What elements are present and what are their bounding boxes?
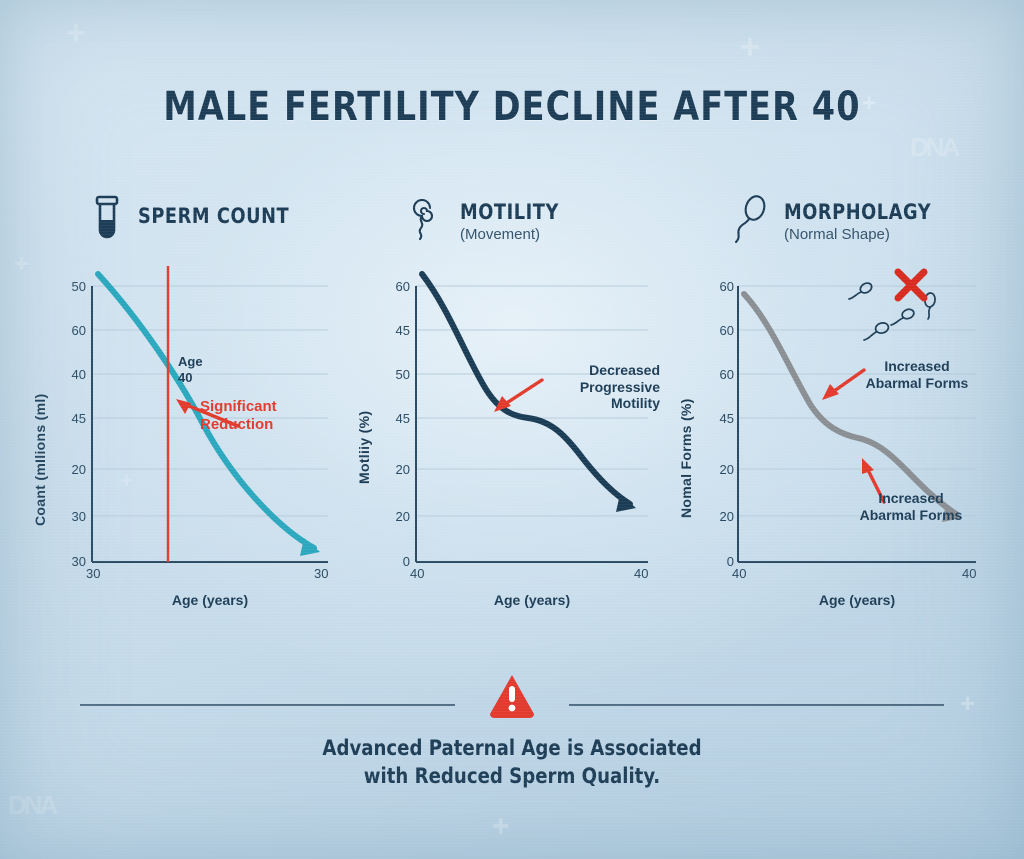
plot-area-motility: Motliiy (%) 60 45 50 45 20 20 0 [352, 266, 672, 630]
chart-panel-sperm-count: SPERM COUNT Coant (mIlions (ml) 50 60 40… [28, 190, 348, 630]
footer-line-2: with Reduced Sperm Quality. [364, 764, 660, 788]
x-axis-label: Age (years) [92, 592, 328, 608]
plus-watermark-icon: + [66, 16, 86, 50]
plus-watermark-icon: + [492, 812, 510, 842]
panel-header: MOTILITY (Movement) [352, 190, 672, 262]
page-title: MALE FERTILITY DECLINE AFTER 40 [36, 84, 988, 130]
plot-area-morphology: Nomal Forms (%) 60 60 60 45 20 20 0 [676, 266, 996, 630]
plus-watermark-icon: + [740, 30, 760, 64]
x-tick: 40 [410, 566, 424, 581]
x-tick: 30 [86, 566, 100, 581]
panel-subtitle: (Normal Shape) [784, 226, 890, 243]
footer-text: Advanced Paternal Age is Associated with… [20, 734, 1003, 791]
x-axis-label: Age (years) [416, 592, 648, 608]
dna-watermark-icon: DNA [8, 790, 55, 821]
panel-title: SPERM COUNT [138, 204, 289, 228]
plot-area-sperm-count: Coant (mIlions (ml) 50 60 40 45 20 30 30 [28, 266, 348, 630]
warning-triangle-icon [488, 672, 536, 718]
plus-watermark-icon: + [14, 250, 29, 276]
decreased-progressive-motility-annotation: DecreasedProgressiveMotility [542, 362, 660, 412]
increased-abnormal-forms-upper-annotation: IncreasedAbarmal Forms [854, 358, 980, 391]
divider-left [80, 704, 455, 706]
chart-panel-motility: MOTILITY (Movement) Motliiy (%) 60 45 50… [352, 190, 672, 630]
plus-watermark-icon: + [960, 690, 975, 716]
divider-right [569, 704, 944, 706]
panel-header: SPERM COUNT [28, 190, 348, 262]
x-tick: 30 [314, 566, 328, 581]
sperm-spiral-icon [404, 194, 450, 246]
sperm-cell-icon [728, 194, 774, 246]
footer-line-1: Advanced Paternal Age is Associated [322, 736, 701, 760]
x-tick: 40 [732, 566, 746, 581]
chart-panel-morphology: MORPHOLAGY (Normal Shape) Nomal Forms (%… [676, 190, 996, 630]
panel-header: MORPHOLAGY (Normal Shape) [676, 190, 996, 262]
age-40-marker-label: Age40 [178, 354, 203, 387]
increased-abnormal-forms-lower-annotation: IncreasedAbarmal Forms [836, 490, 986, 523]
panel-title: MOTILITY [460, 200, 559, 224]
dna-watermark-icon: DNA [910, 132, 957, 163]
panel-title: MORPHOLAGY [784, 200, 931, 224]
x-tick: 40 [634, 566, 648, 581]
abnormal-sperm-cluster-icon [849, 281, 936, 340]
panel-subtitle: (Movement) [460, 226, 540, 243]
x-tick: 40 [962, 566, 976, 581]
significant-reduction-annotation: SignificantReduction [200, 398, 277, 433]
x-axis-label: Age (years) [738, 592, 976, 608]
infographic-poster: + + + + + + DNA DNA + MALE FERTILITY DEC… [0, 0, 1024, 859]
test-tube-icon [84, 194, 130, 246]
